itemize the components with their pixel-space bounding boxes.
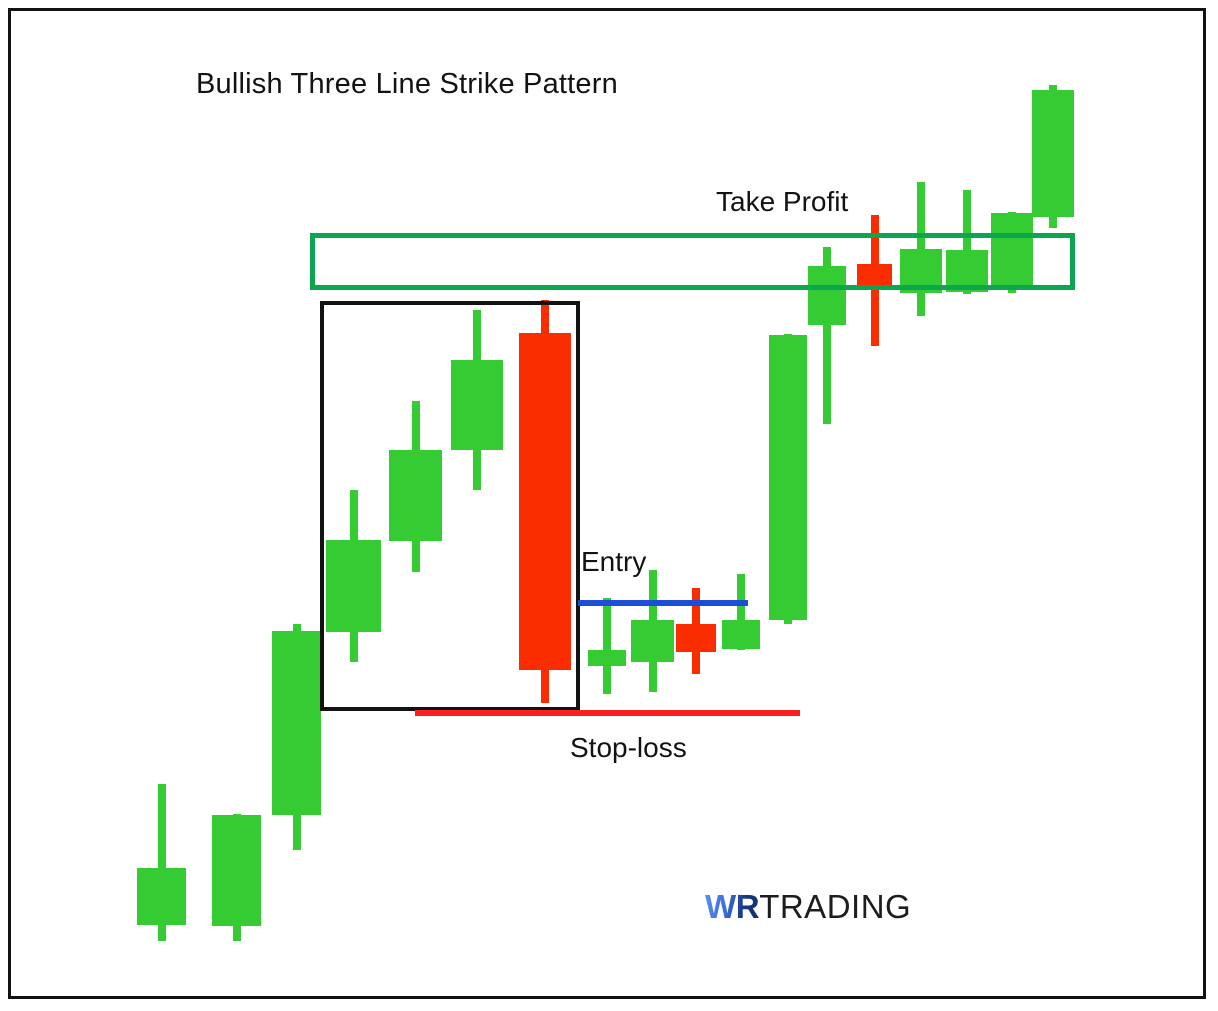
candle-body: [722, 620, 760, 649]
candlestick-3: [272, 624, 321, 850]
stop-loss-line: [415, 710, 800, 716]
candlestick-2: [212, 814, 261, 941]
candle-body: [588, 650, 626, 666]
candle-body: [272, 631, 321, 815]
candle-body: [137, 868, 186, 925]
pattern-highlight-box: [320, 301, 580, 711]
candle-body: [1032, 90, 1074, 217]
entry-line: [578, 600, 748, 606]
candlestick-12: [769, 334, 807, 624]
stop-loss-label: Stop-loss: [570, 732, 687, 764]
watermark-logo: WRTRADING: [705, 888, 911, 926]
candlestick-8: [588, 598, 626, 694]
take-profit-label: Take Profit: [716, 186, 848, 218]
candle-body: [676, 624, 716, 652]
candlestick-18: [1032, 85, 1074, 228]
candle-body: [769, 335, 807, 620]
candlestick-plot: Take ProfitEntryStop-loss: [0, 0, 1218, 1011]
candle-wick: [603, 598, 611, 694]
candle-body: [631, 620, 674, 662]
candlestick-9: [631, 570, 674, 692]
take-profit-zone-box: [310, 233, 1075, 290]
candle-body: [212, 815, 261, 926]
logo-word: TRADING: [759, 888, 911, 926]
logo-mark: WR: [705, 888, 759, 926]
candlestick-1: [137, 784, 186, 941]
candlestick-11: [722, 574, 760, 650]
chart-canvas: Bullish Three Line Strike Pattern Take P…: [0, 0, 1218, 1011]
entry-label: Entry: [581, 546, 646, 578]
